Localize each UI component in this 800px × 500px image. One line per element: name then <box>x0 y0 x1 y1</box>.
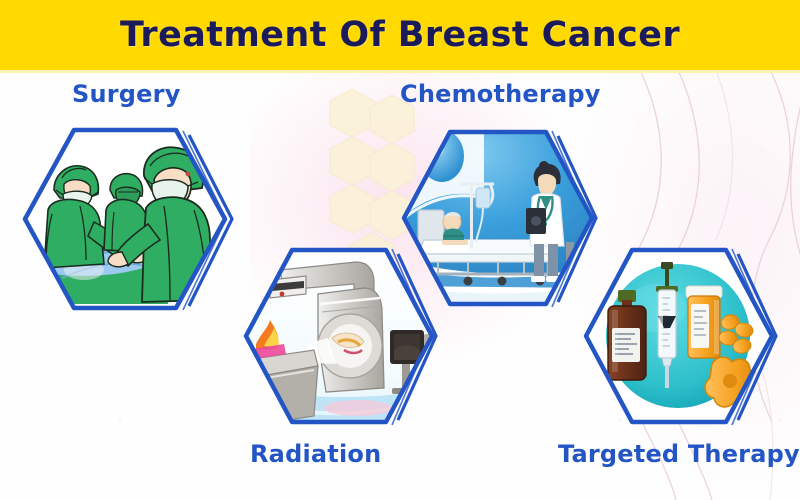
card-radiation[interactable] <box>240 238 440 438</box>
label-targeted-therapy: Targeted Therapy <box>558 440 800 468</box>
label-surgery: Surgery <box>72 80 181 108</box>
label-chemotherapy: Chemotherapy <box>400 80 601 108</box>
surgery-operating-room-illustration <box>18 118 233 333</box>
banner-bottom-edge <box>0 70 800 73</box>
card-targeted-therapy[interactable] <box>578 238 783 438</box>
header-banner: Treatment Of Breast Cancer <box>0 0 800 70</box>
infographic-canvas: Treatment Of Breast Cancer Surgery <box>0 0 800 500</box>
label-radiation: Radiation <box>250 440 381 468</box>
page-title: Treatment Of Breast Cancer <box>120 15 680 55</box>
card-surgery[interactable] <box>18 118 233 333</box>
linear-accelerator-radiotherapy-machine-illustration <box>240 238 440 438</box>
medication-syringe-pills-cell-illustration <box>578 238 783 438</box>
